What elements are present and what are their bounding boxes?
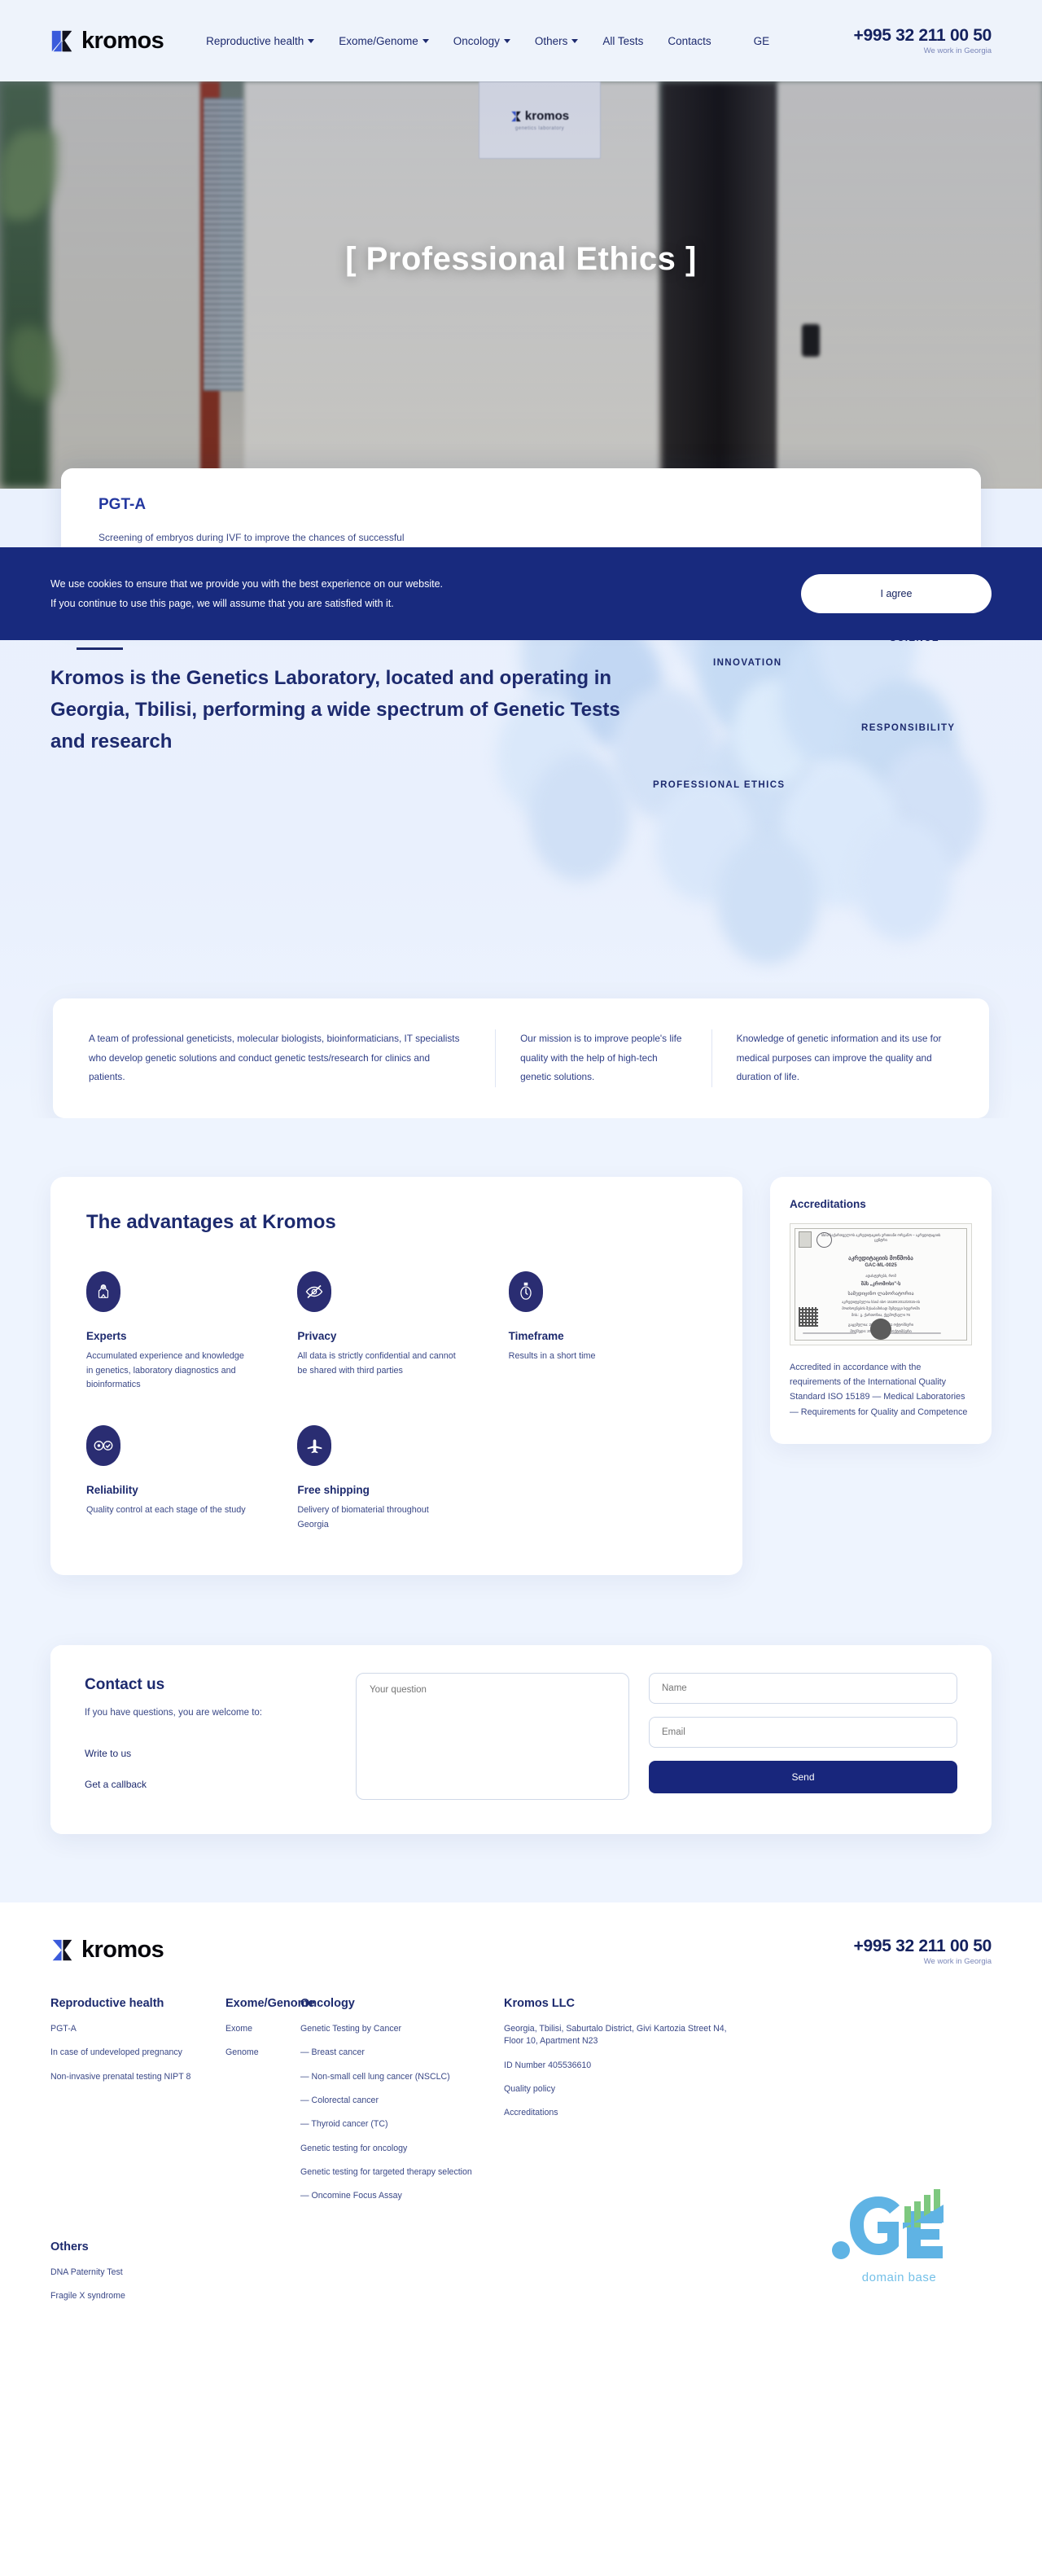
cert-body1: აკრედიტებულია სსიპ ისო 15189:2012/2015-ი… [842,1300,920,1305]
footer-columns: Reproductive health PGT-A In case of und… [50,1997,992,2214]
advantage-desc: Quality control at each stage of the stu… [86,1503,249,1518]
advantage-desc: Accumulated experience and knowledge in … [86,1349,249,1393]
footer-link[interactable]: Genetic Testing by Cancer [300,2023,504,2035]
advantages-card: The advantages at Kromos Experts Accumul… [50,1177,742,1575]
contact-form-fields: Send [649,1673,957,1806]
header-phone-number[interactable]: +995 32 211 00 50 [854,26,992,46]
footer-column-exome-genome: Exome/Genome Exome Genome [225,1997,300,2214]
header-phone-block[interactable]: +995 32 211 00 50 We work in Georgia [854,26,992,55]
stopwatch-icon [509,1271,543,1312]
cert-heading: აკრედიტაციის მოწმობა [848,1255,913,1262]
kromos-logo-icon [50,29,74,53]
advantage-name: Experts [86,1330,284,1342]
hero-overlay [0,81,1042,489]
nav-item-exome-genome[interactable]: Exome/Genome [339,35,429,47]
footer-link-quality-policy[interactable]: Quality policy [504,2083,846,2095]
advantage-desc: All data is strictly confidential and ca… [297,1349,460,1379]
header-phone-subtitle: We work in Georgia [854,46,992,55]
cert-body3: მის.: გ. ქართოზია, ქვემოქსელი 76 [852,1313,910,1318]
chevron-down-icon [571,39,578,43]
nav-item-others[interactable]: Others [535,35,579,47]
footer-link[interactable]: In case of undeveloped pregnancy [50,2047,225,2059]
footer-column-title: Oncology [300,1997,504,2010]
chevron-down-icon [308,39,314,43]
footer-link[interactable]: Non-invasive prenatal testing NIPT 8 [50,2071,225,2083]
contact-subtitle: If you have questions, you are welcome t… [85,1705,322,1722]
footer-column-title: Reproductive health [50,1997,225,2010]
advantage-name: Timeframe [509,1330,707,1342]
footer-phone-subtitle: We work in Georgia [854,1957,992,1966]
advantages-title: The advantages at Kromos [86,1211,707,1234]
contact-info: Contact us If you have questions, you ar… [50,1645,356,1834]
cert-code: GAC-ML-0025 [865,1263,896,1268]
about-heading: Kromos is the Genetics Laboratory, locat… [50,663,620,758]
advantage-item-timeframe: Timeframe Results in a short time [509,1271,707,1393]
cert-small1: ადასტურებს, რომ [865,1274,895,1279]
footer-top: kromos +995 32 211 00 50 We work in Geor… [50,1937,992,1966]
advantages-section: The advantages at Kromos Experts Accumul… [0,1118,1042,1624]
expert-icon [86,1271,120,1312]
contact-title: Contact us [85,1676,322,1694]
advantage-desc: Results in a short time [509,1349,672,1364]
footer-link-accreditations[interactable]: Accreditations [504,2107,846,2119]
advantage-item-free-shipping: Free shipping Delivery of biomaterial th… [297,1425,495,1533]
cookie-text-line2: If you continue to use this page, we wil… [50,594,443,613]
nav-item-contacts[interactable]: Contacts [668,35,711,47]
accreditations-description: Accredited in accordance with the requir… [790,1360,972,1420]
nav-label: Exome/Genome [339,35,418,47]
language-switcher[interactable]: GE [754,35,770,47]
hero-title: [ Professional Ethics ] [0,241,1042,278]
advantage-item-empty [509,1425,707,1533]
mission-col-mission: Our mission is to improve people's life … [495,1029,711,1087]
value-word-responsibility: RESPONSIBILITY [861,723,955,733]
cert-entity2: სამედიცინო ლაბორატორია [847,1291,913,1297]
email-input[interactable] [649,1717,957,1748]
value-word-innovation: INNOVATION [713,658,782,668]
footer-column-title: Others [50,2240,225,2253]
site-footer: kromos +995 32 211 00 50 We work in Geor… [0,1902,1042,2339]
nav-label: Contacts [668,35,711,47]
footer-address: Georgia, Tbilisi, Saburtalo District, Gi… [504,2023,740,2048]
nav-label: Oncology [453,35,500,47]
footer-logo[interactable]: kromos [50,1937,164,1964]
advantage-name: Free shipping [297,1484,495,1496]
footer-phone-block[interactable]: +995 32 211 00 50 We work in Georgia [854,1937,992,1966]
mission-card: A team of professional geneticists, mole… [53,998,989,1118]
wax-seal-icon [870,1319,891,1340]
footer-link[interactable]: PGT-A [50,2023,225,2035]
contact-card: Contact us If you have questions, you ar… [50,1645,992,1834]
cert-entity: შპს „კრომოსი"-ს [861,1281,901,1287]
header-logo[interactable]: kromos [50,28,164,55]
footer-column-title: Exome/Genome [225,1997,300,2010]
crest-icon [799,1231,812,1248]
advantages-grid: Experts Accumulated experience and knowl… [86,1271,707,1533]
mission-col-knowledge: Knowledge of genetic information and its… [711,1029,953,1087]
footer-link[interactable]: — Non-small cell lung cancer (NSCLC) [300,2071,504,2083]
nav-label: All Tests [602,35,643,47]
advantage-desc: Delivery of biomaterial throughout Georg… [297,1503,460,1533]
chevron-down-icon [504,39,510,43]
nav-label: Reproductive health [206,35,304,47]
contact-link-write-to-us[interactable]: Write to us [85,1748,322,1759]
accreditation-certificate-image[interactable]: სსიპ საქართველოს აკრედიტაციის ერთიანი ორ… [790,1223,972,1345]
eye-off-icon [297,1271,331,1312]
advantage-name: Privacy [297,1330,495,1342]
advantage-item-experts: Experts Accumulated experience and knowl… [86,1271,284,1393]
footer-link[interactable]: Exome [225,2023,300,2035]
value-word-professional-ethics: PROFESSIONAL ETHICS [653,780,786,790]
footer-link[interactable]: — Colorectal cancer [300,2095,504,2107]
cert-org-line: სსიპ საქართველოს აკრედიტაციის ერთიანი ორ… [820,1233,942,1244]
footer-link[interactable]: — Breast cancer [300,2047,504,2059]
footer-link[interactable]: Fragile X syndrome [50,2290,225,2302]
footer-column-oncology: Oncology Genetic Testing by Cancer — Bre… [300,1997,504,2214]
cookie-consent-banner: We use cookies to ensure that we provide… [0,547,1042,640]
advantage-item-privacy: Privacy All data is strictly confidentia… [297,1271,495,1393]
contact-link-get-a-callback[interactable]: Get a callback [85,1779,322,1790]
advantage-item-reliability: Reliability Quality control at each stag… [86,1425,284,1533]
pgt-a-description: Screening of embryos during IVF to impro… [99,530,943,546]
nav-item-reproductive-health[interactable]: Reproductive health [206,35,314,47]
qr-code-icon [799,1307,818,1327]
send-button[interactable]: Send [649,1761,957,1793]
footer-phone-number[interactable]: +995 32 211 00 50 [854,1937,992,1956]
footer-link[interactable]: Genetic testing for targeted therapy sel… [300,2166,504,2179]
accreditations-title: Accreditations [790,1198,972,1210]
cookie-agree-button[interactable]: I agree [801,574,992,613]
nav-label: Others [535,35,568,47]
mission-col-team: A team of professional geneticists, mole… [89,1029,495,1087]
hero-banner: kromos genetics laboratory [ Professiona… [0,81,1042,489]
footer-column-reproductive-health: Reproductive health PGT-A In case of und… [50,1997,225,2214]
kromos-logo-icon [50,1938,74,1962]
cookie-text: We use cookies to ensure that we provide… [50,574,443,614]
question-textarea[interactable] [356,1673,629,1800]
name-input[interactable] [649,1673,957,1704]
ge-logo-icon [828,2187,970,2265]
footer-column-title: Kromos LLC [504,1997,846,2010]
accreditations-card: Accreditations სსიპ საქართველოს აკრედიტა… [770,1177,992,1444]
cert-body2: მოთხოვნების შესაბამისად შემდეგი სფეროში [842,1306,920,1311]
footer-link[interactable]: — Thyroid cancer (TC) [300,2118,504,2131]
nav-item-all-tests[interactable]: All Tests [602,35,643,47]
contact-section: Contact us If you have questions, you ar… [0,1624,1042,1902]
contact-form: Send [356,1645,992,1834]
footer-id-number: ID Number 405536610 [504,2060,846,2072]
ge-domain-base-logo[interactable]: domain base [828,2187,970,2284]
chevron-down-icon [422,39,429,43]
footer-column-kromos-llc: Kromos LLC Georgia, Tbilisi, Saburtalo D… [504,1997,846,2214]
airplane-icon [297,1425,331,1466]
header-logo-text: kromos [81,28,164,55]
footer-link[interactable]: DNA Paternity Test [50,2267,225,2279]
pgt-a-title: PGT-A [99,496,943,514]
footer-logo-text: kromos [81,1937,164,1964]
footer-link[interactable]: Genetic testing for oncology [300,2143,504,2155]
ge-logo-subtitle: domain base [828,2271,970,2284]
advantage-name: Reliability [86,1484,284,1496]
page-root: kromos Reproductive health Exome/Genome … [0,0,1042,2338]
main-nav: Reproductive health Exome/Genome Oncolog… [206,35,769,47]
footer-link[interactable]: Genome [225,2047,300,2059]
footer-link[interactable]: — Oncomine Focus Assay [300,2190,504,2202]
footer-column-others: Others DNA Paternity Test Fragile X synd… [50,2240,225,2303]
cookie-text-line1: We use cookies to ensure that we provide… [50,574,443,594]
site-header: kromos Reproductive health Exome/Genome … [0,0,1042,81]
goggles-check-icon [86,1425,120,1466]
nav-item-oncology[interactable]: Oncology [453,35,510,47]
